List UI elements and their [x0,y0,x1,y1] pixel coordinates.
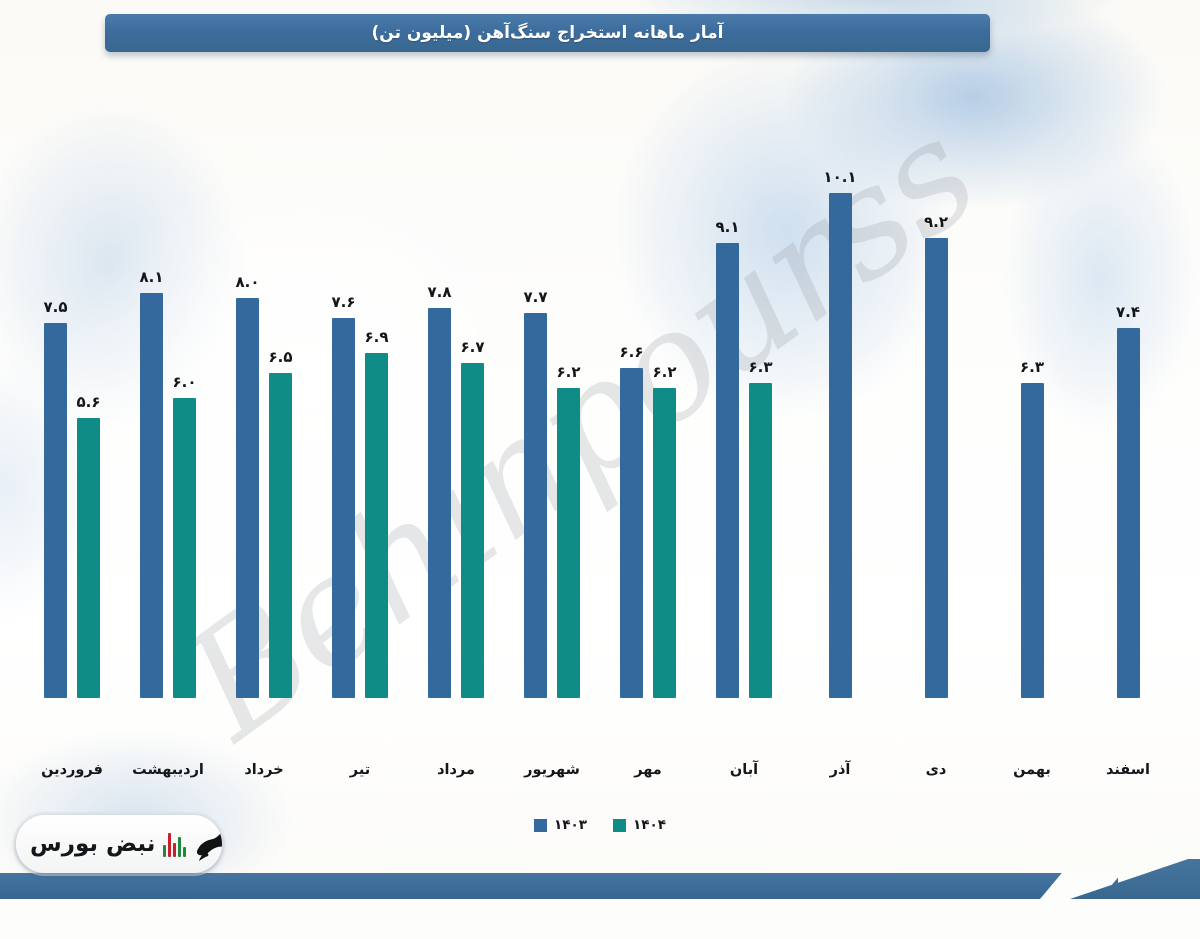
bar-column: ۷.۸ [428,120,451,760]
bar-column: ۶.۰ [173,120,196,760]
bar-value-label: ۸.۱ [139,268,163,286]
bar-value-label: ۶.۶ [619,343,643,361]
bar-value-label: ۶.۲ [652,363,676,381]
bar-value-label: ۶.۵ [268,348,292,366]
bar-column: ۶.۶ [620,120,643,760]
bar-series-1404[interactable] [365,353,388,698]
bar-value-label: ۶.۹ [364,328,388,346]
chart-title-bar: آمار ماهانه استخراج سنگ‌آهن (میلیون تن) [105,14,990,52]
bar-series-1403[interactable] [925,238,948,698]
bar-value-label: ۹.۲ [924,213,948,231]
page-title: آمار ماهانه استخراج سنگ‌آهن (میلیون تن) [372,23,724,43]
x-axis-label-10: بهمن [984,762,1080,792]
legend-swatch-icon [613,819,626,832]
x-axis-label-6: مهر [600,762,696,792]
bar-column: ۱۰.۱ [829,120,852,760]
bar-column: ۹.۲ [925,120,948,760]
bar-value-label: ۱۰.۱ [823,168,856,186]
bar-value-label: ۷.۵ [43,298,67,316]
bar-series-1404[interactable] [77,418,100,698]
bar-series-1403[interactable] [716,243,739,698]
bar-value-label: ۶.۳ [748,358,772,376]
bar-series-1403[interactable] [428,308,451,698]
x-axis-label-9: دی [888,762,984,792]
legend-swatch-icon [534,819,547,832]
bar-value-label: ۷.۴ [1116,303,1140,321]
bar-group: ۸.۰۶.۵ [216,120,312,760]
bar-group: ۹.۲ [888,120,984,760]
chart-plot-area: ۷.۵۵.۶۸.۱۶.۰۸.۰۶.۵۷.۶۶.۹۷.۸۶.۷۷.۷۶.۲۶.۶۶… [0,120,1200,760]
band-fill [0,873,1118,899]
bar-value-label: ۷.۸ [427,283,451,301]
bar-column: ۵.۶ [77,120,100,760]
bar-series-1404[interactable] [653,388,676,698]
x-axis-label-5: شهریور [504,762,600,792]
bar-group: ۷.۸۶.۷ [408,120,504,760]
bar-column: ۶.۵ [269,120,292,760]
bar-group: ۶.۳ [984,120,1080,760]
bar-series-1404[interactable] [461,363,484,698]
bar-series-1403[interactable] [44,323,67,698]
candlestick-icon [163,831,186,857]
bar-group: ۷.۶۶.۹ [312,120,408,760]
bar-series-1403[interactable] [524,313,547,698]
bar-column: ۸.۰ [236,120,259,760]
bar-series-1404[interactable] [173,398,196,698]
bar-series-1403[interactable] [1021,383,1044,698]
bar-value-label: ۶.۷ [460,338,484,356]
bar-value-label: ۷.۷ [523,288,547,306]
bar-series-1404[interactable] [557,388,580,698]
bar-series-1403[interactable] [829,193,852,698]
x-axis-label-2: خرداد [216,762,312,792]
x-axis-label-1: اردیبهشت [120,762,216,792]
legend-item-۱۴۰۳[interactable]: ۱۴۰۳ [534,817,587,833]
x-axis-label-7: آبان [696,762,792,792]
bar-column: ۶.۹ [365,120,388,760]
bar-column: ۶.۳ [749,120,772,760]
x-axis-label-0: فروردین [24,762,120,792]
bar-column: ۶.۲ [653,120,676,760]
legend-label: ۱۴۰۴ [633,817,666,833]
bar-group: ۹.۱۶.۳ [696,120,792,760]
bar-series-1403[interactable] [332,318,355,698]
bar-value-label: ۹.۱ [715,218,739,236]
bar-value-label: ۷.۶ [331,293,355,311]
x-axis-label-8: آذر [792,762,888,792]
brand-logo[interactable]: نبض بورس [16,815,222,873]
bar-value-label: ۸.۰ [235,273,259,291]
bar-column: ۷.۵ [44,120,67,760]
bar-value-label: ۶.۰ [172,373,196,391]
bar-value-label: ۶.۲ [556,363,580,381]
bar-series-1403[interactable] [140,293,163,698]
legend-item-۱۴۰۴[interactable]: ۱۴۰۴ [613,817,666,833]
bar-column: ۸.۱ [140,120,163,760]
bar-group: ۱۰.۱ [792,120,888,760]
bar-group: ۸.۱۶.۰ [120,120,216,760]
bar-group: ۶.۶۶.۲ [600,120,696,760]
bar-series-1403[interactable] [236,298,259,698]
bar-column: ۹.۱ [716,120,739,760]
x-axis-label-4: مرداد [408,762,504,792]
bar-column: ۶.۷ [461,120,484,760]
bar-group: ۷.۵۵.۶ [24,120,120,760]
x-axis-label-11: اسفند [1080,762,1176,792]
bar-series-1404[interactable] [749,383,772,698]
x-axis-label-3: تیر [312,762,408,792]
x-axis-labels: فروردیناردیبهشتخردادتیرمردادشهریورمهرآبا… [0,762,1200,792]
bar-series-1403[interactable] [620,368,643,698]
bar-column: ۷.۴ [1117,120,1140,760]
bar-series-1403[interactable] [1117,328,1140,698]
bar-value-label: ۵.۶ [76,393,100,411]
bar-value-label: ۶.۳ [1020,358,1044,376]
bar-group: ۷.۷۶.۲ [504,120,600,760]
bar-column: ۷.۷ [524,120,547,760]
brand-logo-label: نبض بورس [30,833,155,856]
legend-label: ۱۴۰۳ [554,817,587,833]
bar-group: ۷.۴ [1080,120,1176,760]
bar-column: ۶.۲ [557,120,580,760]
bar-series-1404[interactable] [269,373,292,698]
bar-column: ۶.۳ [1021,120,1044,760]
bar-column: ۷.۶ [332,120,355,760]
